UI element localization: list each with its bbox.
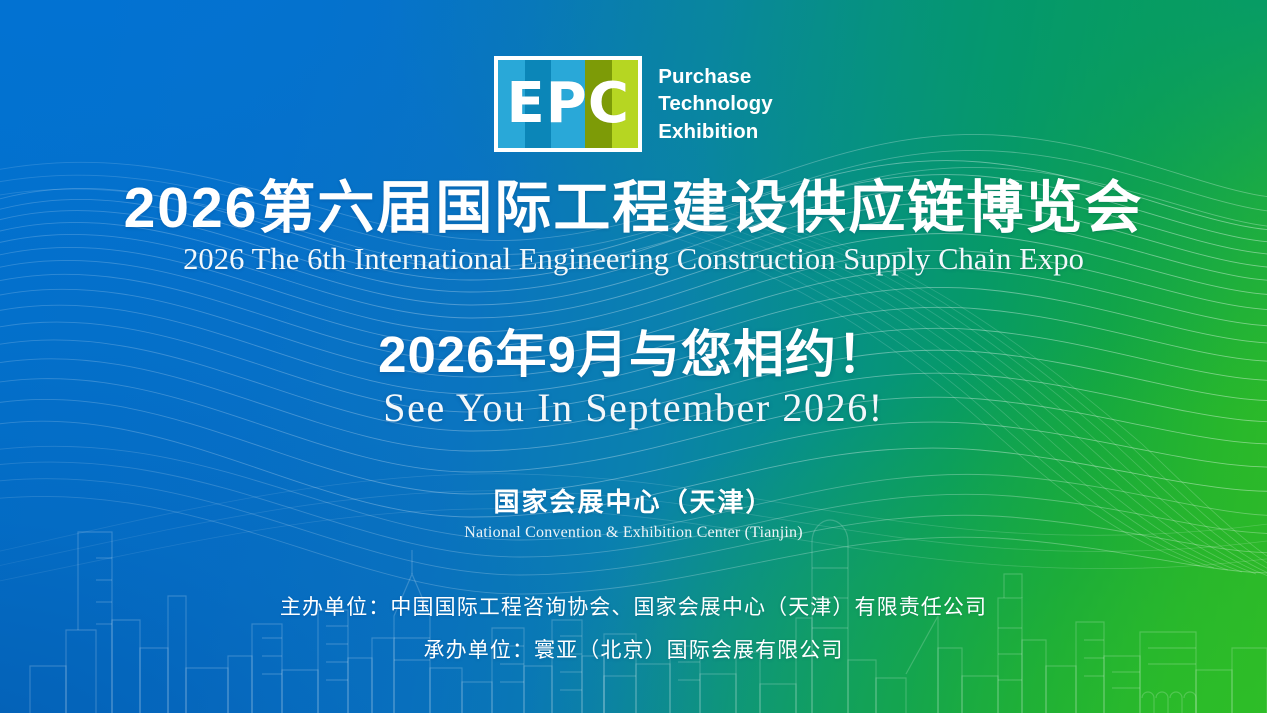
logo-tagline: Purchase Technology Exhibition: [658, 63, 773, 145]
host-organization: 主办单位：中国国际工程咨询协会、国家会展中心（天津）有限责任公司: [280, 595, 987, 621]
logo-tagline-line-2: Technology: [658, 90, 773, 117]
epc-logo-lockup: EPC Purchase Technology Exhibition: [494, 56, 773, 152]
event-poster: EPC Purchase Technology Exhibition 2026第…: [0, 0, 1267, 713]
venue-english: National Convention & Exhibition Center …: [464, 523, 803, 542]
logo-tagline-line-1: Purchase: [658, 63, 773, 90]
venue-chinese: 国家会展中心（天津）: [493, 487, 773, 518]
headline-chinese: 2026第六届国际工程建设供应链博览会: [124, 178, 1144, 238]
epc-logo-mark: EPC: [494, 56, 642, 152]
slogan-english: See You In September 2026!: [383, 386, 883, 431]
slogan-chinese: 2026年9月与您相约！: [378, 327, 889, 382]
headline-english: 2026 The 6th International Engineering C…: [183, 243, 1084, 277]
logo-tagline-line-3: Exhibition: [658, 118, 773, 145]
organizer-organization: 承办单位：寰亚（北京）国际会展有限公司: [424, 638, 844, 664]
epc-logo-text: EPC: [498, 60, 638, 148]
poster-content: EPC Purchase Technology Exhibition 2026第…: [0, 0, 1267, 713]
